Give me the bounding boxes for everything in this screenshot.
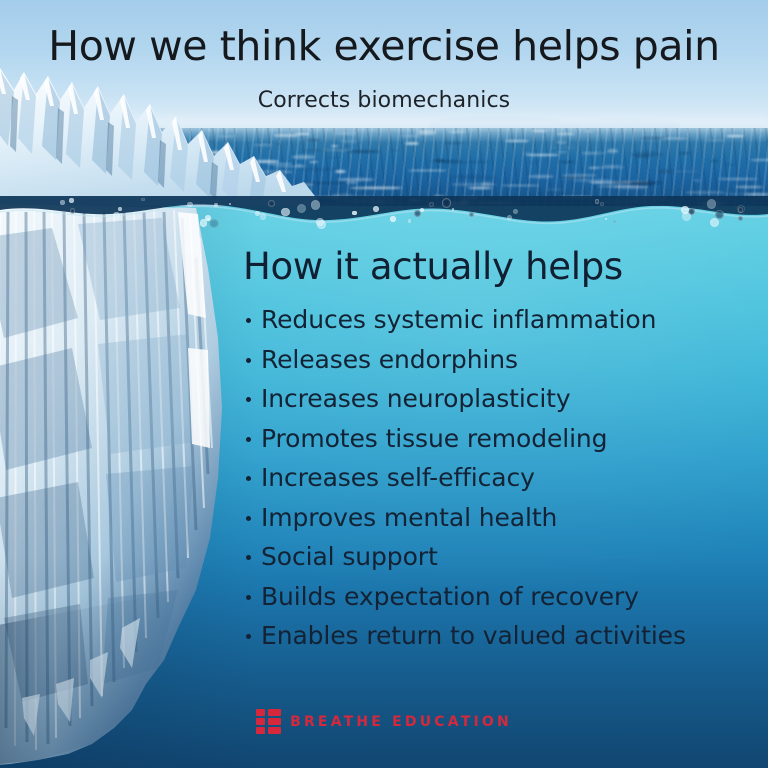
benefit-item: Enables return to valued activities [243, 621, 763, 651]
subtitle-myth: Corrects biomechanics [0, 88, 768, 113]
waterline [0, 196, 768, 230]
benefit-item: Increases self-efficacy [243, 463, 763, 493]
benefits-list: Reduces systemic inflammationReleases en… [243, 305, 763, 661]
benefit-item: Releases endorphins [243, 345, 763, 375]
benefit-item: Improves mental health [243, 503, 763, 533]
brand-logo: BREATHE EDUCATION [0, 709, 768, 734]
benefit-item: Reduces systemic inflammation [243, 305, 763, 335]
brand-name: BREATHE EDUCATION [290, 714, 512, 730]
grid-blocks-icon [256, 709, 281, 734]
benefit-item: Social support [243, 542, 763, 572]
poster-canvas: How we think exercise helps pain Correct… [0, 0, 768, 768]
section-heading: How it actually helps [243, 245, 623, 288]
benefit-item: Promotes tissue remodeling [243, 424, 763, 454]
page-title: How we think exercise helps pain [0, 22, 768, 70]
benefit-item: Increases neuroplasticity [243, 384, 763, 414]
benefit-item: Builds expectation of recovery [243, 582, 763, 612]
